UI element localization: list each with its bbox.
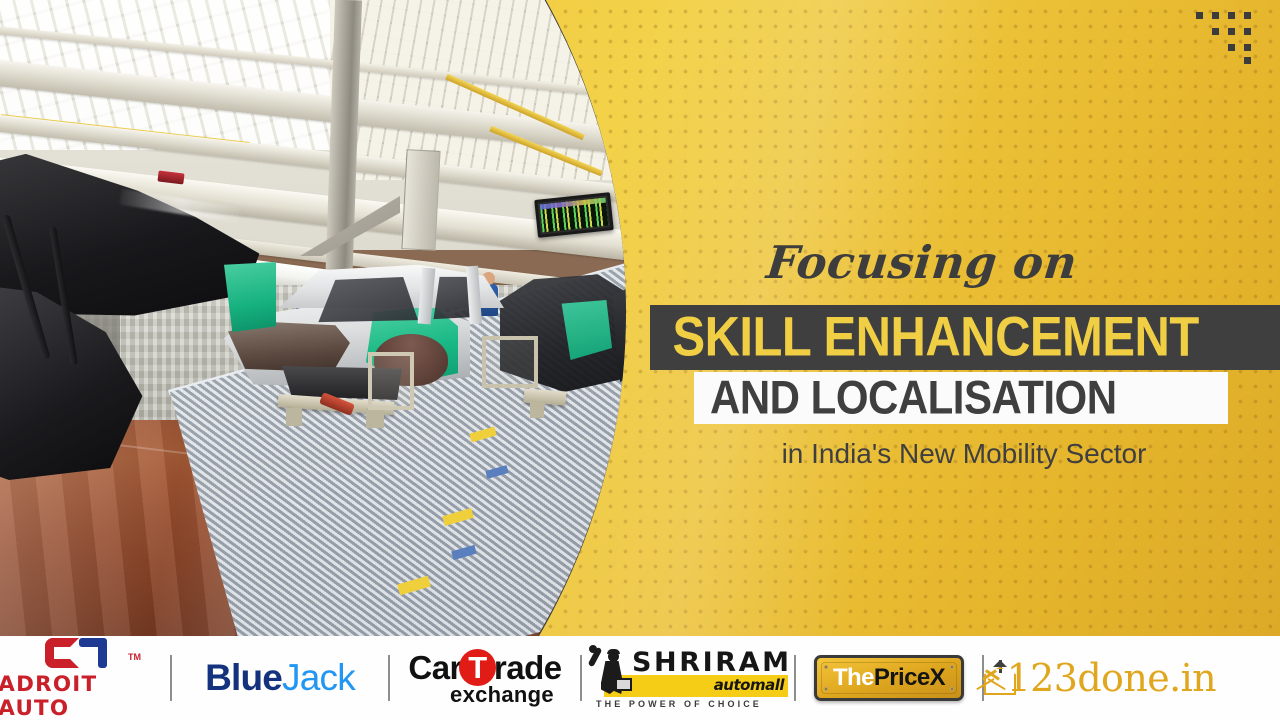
factory-photo-frame — [0, 0, 642, 642]
skid-support — [530, 402, 544, 418]
production-monitor-screen — [534, 192, 614, 238]
shriram-mascot-icon — [588, 645, 634, 697]
logo-thepricex[interactable]: ThePriceX — [796, 636, 982, 720]
adroit-c1-mark-icon: TM — [45, 636, 125, 670]
open-box-arrow-icon — [984, 660, 998, 696]
logo-adroit-auto[interactable]: TM ADROIT AUTO — [0, 636, 170, 720]
car-green-door-panel — [224, 262, 276, 332]
assembly-tool-frame — [482, 336, 538, 388]
partner-logo-bar: TM ADROIT AUTO BlueJack Car T rade excha… — [0, 636, 1280, 720]
logo-shriram-automall[interactable]: SHRIRAM automall THE POWER OF CHOICE — [582, 636, 794, 720]
plate-screw-icon — [824, 665, 828, 669]
cartrade-rade-text: rade — [494, 649, 562, 687]
factory-photo — [0, 0, 636, 636]
square-grid-decoration — [1196, 12, 1256, 64]
skid-support — [286, 408, 302, 426]
headline-line2-band: AND LOCALISATION — [694, 372, 1228, 424]
headline-line2-text: AND LOCALISATION — [694, 371, 1117, 425]
bluejack-part1: Blue — [205, 657, 282, 699]
pricex-price-text: PriceX — [874, 664, 945, 691]
logo-123done-in[interactable]: 123done.in — [984, 636, 1216, 720]
banner-root: Focusing on SKILL ENHANCEMENT AND LOCALI… — [0, 0, 1280, 720]
adroit-auto-wordmark: ADROIT AUTO — [0, 672, 172, 720]
pricex-plate-badge: ThePriceX — [814, 655, 964, 701]
headline-script-text: Focusing on — [600, 240, 1245, 285]
cartrade-car-text: Car — [408, 649, 462, 687]
adroit-one-stem — [98, 638, 107, 668]
done123-wordmark: 123done.in — [1007, 656, 1216, 700]
cartrade-wordmark: Car T rade — [408, 649, 561, 687]
shriram-wordmark: SHRIRAM — [632, 647, 792, 678]
logo-bluejack[interactable]: BlueJack — [172, 636, 388, 720]
trademark-symbol: TM — [128, 652, 141, 662]
plate-screw-icon — [950, 687, 954, 691]
headline-line1-text: SKILL ENHANCEMENT — [650, 306, 1199, 370]
logo-cartrade-exchange[interactable]: Car T rade exchange — [390, 636, 580, 720]
plate-screw-icon — [950, 665, 954, 669]
assembly-tool-frame — [368, 352, 414, 410]
headline-line1-band: SKILL ENHANCEMENT — [650, 305, 1280, 370]
ceiling-equipment-box — [401, 149, 440, 251]
shriram-tagline: THE POWER OF CHOICE — [596, 699, 762, 709]
pricex-wordmark: ThePriceX — [833, 664, 945, 692]
adroit-one-shape — [79, 638, 109, 668]
pricex-the-text: The — [833, 664, 874, 691]
bluejack-part2: Jack — [282, 657, 355, 699]
skid-support — [366, 408, 384, 428]
shriram-automall-text: automall — [714, 676, 784, 694]
plate-screw-icon — [824, 687, 828, 691]
adroit-c-shape — [45, 638, 79, 668]
cartrade-t-badge-icon: T — [459, 649, 496, 686]
headline-subline: in India's New Mobility Sector — [694, 438, 1234, 470]
